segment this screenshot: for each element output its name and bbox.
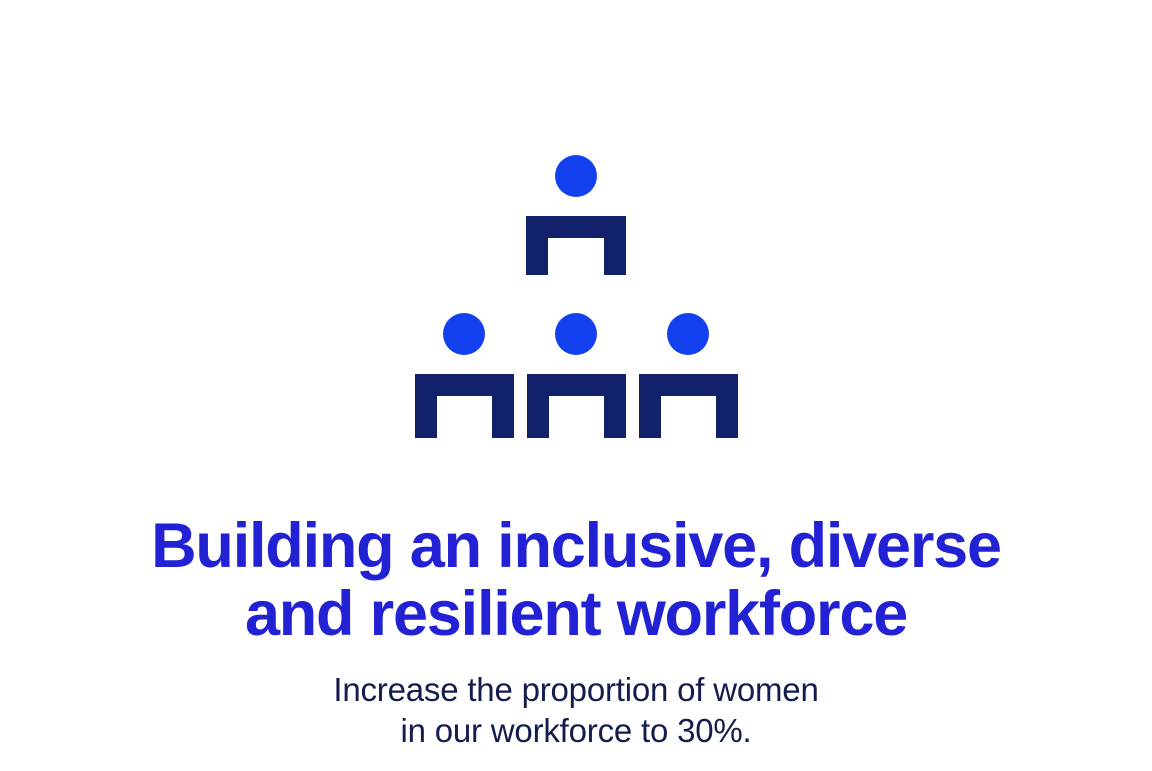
page-title: Building an inclusive, diverse and resil…	[0, 512, 1152, 648]
person-head-icon	[555, 155, 597, 197]
person-body-icon	[492, 374, 514, 438]
page-subtitle-line-1: Increase the proportion of women	[0, 669, 1152, 710]
icon-region	[0, 0, 1152, 470]
person-head-icon	[555, 313, 597, 355]
person-body-icon	[604, 216, 626, 275]
page-subtitle-line-2: in our workforce to 30%.	[0, 710, 1152, 751]
person-body-icon	[716, 374, 738, 438]
people-group-pyramid-icon	[396, 140, 756, 450]
page-title-line-2: and resilient workforce	[0, 580, 1152, 648]
page-title-line-1: Building an inclusive, diverse	[0, 512, 1152, 580]
person-body-icon	[604, 374, 626, 438]
person-head-icon	[667, 313, 709, 355]
page-subtitle: Increase the proportion of women in our …	[0, 669, 1152, 751]
slide-canvas: Building an inclusive, diverse and resil…	[0, 0, 1152, 771]
person-head-icon	[443, 313, 485, 355]
